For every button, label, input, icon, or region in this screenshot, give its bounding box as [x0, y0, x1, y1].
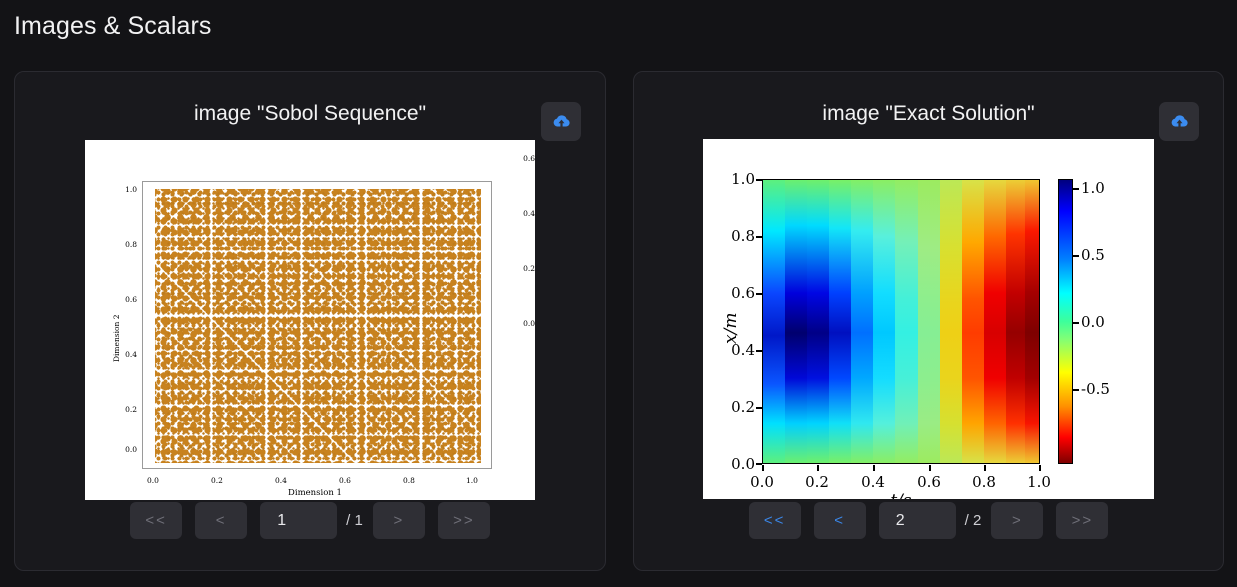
heatmap-xtick-mark	[873, 465, 875, 471]
sobol-xtick-0.4: 0.4	[261, 476, 301, 485]
heatmap-ytick-mark	[756, 236, 762, 238]
heatmap-xtick-mark	[762, 465, 764, 471]
heatmap-colorbar	[1058, 179, 1073, 464]
next-page-button-exact-solution[interactable]: >	[991, 502, 1043, 539]
heatmap-xtick-0.8: 0.8	[964, 473, 1004, 491]
heatmap-ytick-mark	[756, 350, 762, 352]
colorbar-tick-mark	[1073, 322, 1079, 324]
first-page-button-exact-solution[interactable]: <<	[749, 502, 801, 539]
page-total-exact-solution: / 2	[965, 512, 982, 529]
colorbar-tick-mark	[1073, 255, 1079, 257]
sobol-ytick-0.6: 0.6	[85, 295, 137, 304]
sobol-ytick-3: 0.6	[487, 154, 535, 163]
heatmap-ytick-mark	[756, 293, 762, 295]
heatmap-ytick-0.2: 0.2	[703, 398, 755, 416]
heatmap-ytick-0.8: 0.8	[703, 227, 755, 245]
colorbar-tick-mark	[1073, 389, 1079, 391]
heatmap-xtick-1.0: 1.0	[1019, 473, 1059, 491]
sobol-xtick-1.0: 1.0	[452, 476, 492, 485]
sobol-sequence-plot: 0.0 0.2 0.4 0.6 0.8 1.0 1.0 0.8 0.6 0.4 …	[85, 140, 535, 500]
sobol-ytick-0.2: 0.2	[85, 405, 137, 414]
heatmap-xtick-mark	[817, 465, 819, 471]
heatmap-axes-frame	[762, 179, 1040, 464]
colorbar-label--0.5: -0.5	[1081, 380, 1110, 398]
sobol-ytick-1.0: 1.0	[85, 185, 137, 194]
page-total-sobol: / 1	[346, 512, 363, 529]
sobol-axes-frame	[142, 181, 492, 469]
heatmap-ytick-1.0: 1.0	[703, 170, 755, 188]
sobol-ytick-0.8: 0.8	[85, 240, 137, 249]
colorbar-tick-mark	[1073, 188, 1079, 190]
first-page-button-sobol[interactable]: <<	[130, 502, 182, 539]
page-number-input-sobol[interactable]	[260, 502, 337, 539]
sobol-ytick-0.4: 0.4	[85, 350, 137, 359]
sobol-ytick-0: 0.0	[487, 319, 535, 328]
sobol-x-axis-label: Dimension 1	[240, 488, 390, 498]
heatmap-ytick-mark	[756, 407, 762, 409]
heatmap-y-axis-label: x/m	[721, 313, 741, 344]
sobol-ytick-2: 0.4	[487, 209, 535, 218]
heatmap-x-axis-label: t/s	[851, 491, 951, 499]
heatmap-xtick-mark	[984, 465, 986, 471]
prev-page-button-exact-solution[interactable]: <	[814, 502, 866, 539]
page-number-input-exact-solution[interactable]	[879, 502, 956, 539]
heatmap-xtick-mark	[929, 465, 931, 471]
image-card-sobol: image "Sobol Sequence" 0.0 0.2 0.4 0.6 0…	[14, 71, 606, 571]
pagination-exact-solution: << < / 2 > >>	[634, 502, 1223, 539]
next-page-button-sobol[interactable]: >	[373, 502, 425, 539]
download-button-exact-solution[interactable]	[1159, 102, 1199, 141]
heatmap-ytick-0.6: 0.6	[703, 284, 755, 302]
heatmap-xtick-0.6: 0.6	[909, 473, 949, 491]
download-button-sobol[interactable]	[541, 102, 581, 141]
last-page-button-exact-solution[interactable]: >>	[1056, 502, 1108, 539]
colorbar-label-0.5: 0.5	[1081, 246, 1105, 264]
heatmap-xtick-0.2: 0.2	[797, 473, 837, 491]
cloud-download-icon	[552, 112, 571, 131]
prev-page-button-sobol[interactable]: <	[195, 502, 247, 539]
pagination-sobol: << < / 1 > >>	[15, 502, 605, 539]
sobol-y-axis-label: Dimension 2	[112, 314, 121, 362]
exact-solution-plot: 1.0 0.8 0.6 0.4 0.2 0.0 0.0 0.2 0.4 0.6 …	[703, 139, 1154, 499]
card-title-exact-solution: image "Exact Solution"	[634, 102, 1223, 126]
heatmap-ytick-mark	[756, 179, 762, 181]
last-page-button-sobol[interactable]: >>	[438, 502, 490, 539]
sobol-xtick-0.0: 0.0	[133, 476, 173, 485]
sobol-scatter-points	[155, 189, 481, 463]
cloud-download-icon	[1170, 112, 1189, 131]
card-title-sobol: image "Sobol Sequence"	[15, 102, 605, 126]
heatmap-xtick-0.4: 0.4	[853, 473, 893, 491]
colorbar-label-1.0: 1.0	[1081, 179, 1105, 197]
sobol-xtick-0.2: 0.2	[197, 476, 237, 485]
sobol-xtick-0.8: 0.8	[389, 476, 429, 485]
sobol-ytick-1: 0.2	[487, 264, 535, 273]
colorbar-label-0.0: 0.0	[1081, 313, 1105, 331]
sobol-xtick-0.6: 0.6	[325, 476, 365, 485]
image-card-exact-solution: image "Exact Solution"	[633, 71, 1224, 571]
heatmap-image	[763, 180, 1039, 463]
sobol-ytick-0.0: 0.0	[85, 445, 137, 454]
page-title: Images & Scalars	[14, 12, 212, 41]
heatmap-xtick-mark	[1039, 465, 1041, 471]
heatmap-xtick-0.0: 0.0	[742, 473, 782, 491]
heatmap-ytick-0.0: 0.0	[703, 455, 755, 473]
